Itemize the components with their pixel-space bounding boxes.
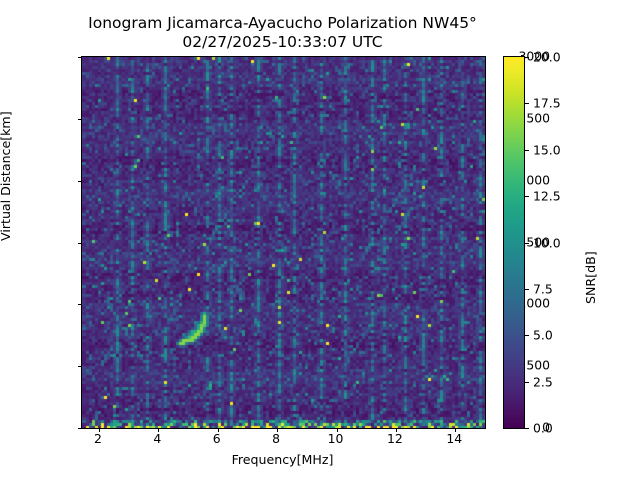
colorbar-tick-mark — [525, 150, 529, 151]
colorbar-tick-label: 10.0 — [533, 235, 561, 250]
colorbar-tick-mark — [525, 57, 529, 58]
colorbar-tick-mark — [525, 196, 529, 197]
title-line-1: Ionogram Jicamarca-Ayacucho Polarization… — [0, 14, 565, 33]
x-tick-label: 6 — [213, 431, 221, 446]
colorbar-label: SNR[dB] — [583, 251, 598, 304]
colorbar-gradient — [504, 57, 524, 428]
colorbar-tick-mark — [525, 103, 529, 104]
colorbar-tick-label: 12.5 — [533, 189, 561, 204]
x-tick-label: 2 — [94, 431, 102, 446]
y-tick-label: 500 — [526, 358, 550, 373]
y-tick-mark — [78, 181, 82, 182]
y-axis-label: Virtual Distance[km] — [0, 111, 13, 241]
colorbar-tick-mark — [525, 289, 529, 290]
colorbar-tick-label: 5.0 — [533, 328, 553, 343]
title-line-2: 02/27/2025-10:33:07 UTC — [0, 33, 565, 52]
y-tick-mark — [78, 57, 82, 58]
colorbar-tick-mark — [525, 428, 529, 429]
ionogram-figure: Ionogram Jicamarca-Ayacucho Polarization… — [0, 0, 640, 480]
colorbar-tick-label: 17.5 — [533, 96, 561, 111]
colorbar-tick-mark — [525, 335, 529, 336]
colorbar-tick-mark — [525, 243, 529, 244]
x-tick-label: 14 — [446, 431, 462, 446]
y-tick-mark — [78, 304, 82, 305]
colorbar-tick-label: 2.5 — [533, 374, 553, 389]
x-tick-label: 4 — [153, 431, 161, 446]
x-tick-label: 8 — [272, 431, 280, 446]
y-tick-mark — [78, 366, 82, 367]
figure-title: Ionogram Jicamarca-Ayacucho Polarization… — [0, 14, 565, 52]
colorbar-tick-label: 7.5 — [533, 281, 553, 296]
colorbar-tick-label: 15.0 — [533, 142, 561, 157]
y-tick-mark — [78, 119, 82, 120]
colorbar-tick-label: 0.0 — [533, 421, 553, 436]
x-tick-label: 12 — [387, 431, 403, 446]
ionogram-plot-area[interactable] — [81, 56, 486, 429]
ionogram-heatmap[interactable] — [82, 57, 485, 428]
colorbar-tick-mark — [525, 382, 529, 383]
x-axis-label: Frequency[MHz] — [0, 452, 565, 467]
y-tick-mark — [78, 428, 82, 429]
y-tick-mark — [78, 243, 82, 244]
colorbar[interactable]: 0.02.55.07.510.012.515.017.520.0 — [503, 56, 525, 429]
colorbar-tick-label: 20.0 — [533, 50, 561, 65]
x-tick-label: 10 — [328, 431, 344, 446]
